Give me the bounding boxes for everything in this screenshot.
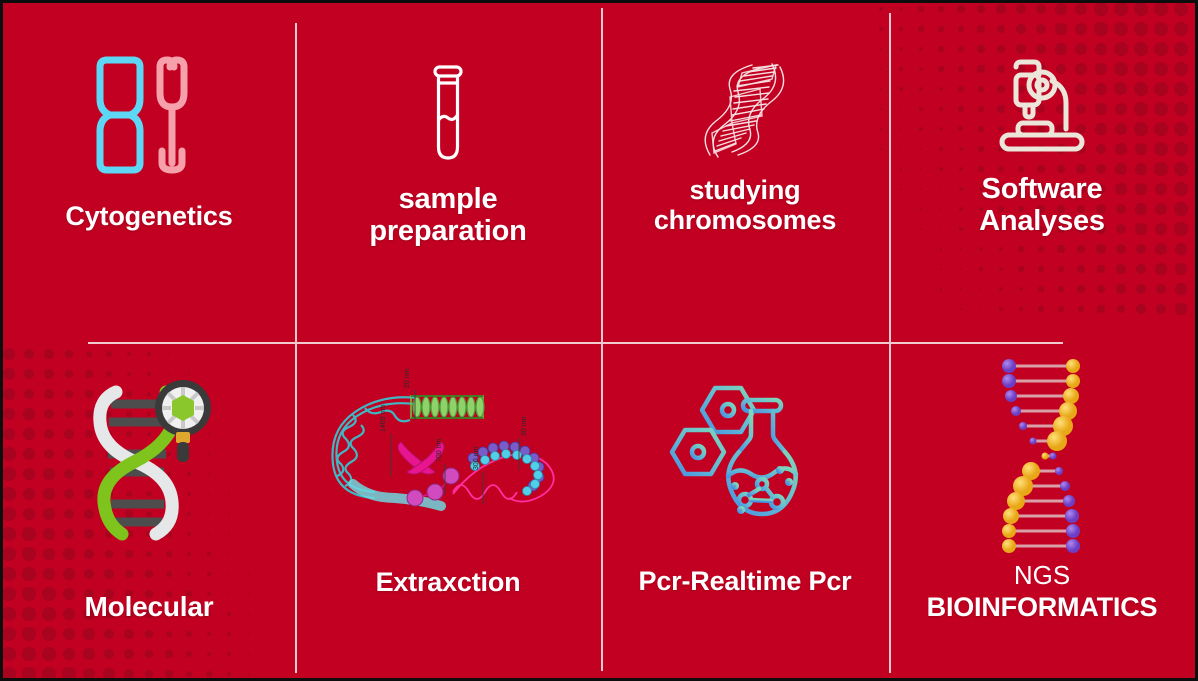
annotation-300nm: 300 nm	[473, 446, 480, 470]
cell-ngs-bioinformatics[interactable]: NGS BIOINFORMATICS	[889, 342, 1195, 678]
cells-grid: Cytogenetics sample preparation	[3, 3, 1195, 678]
cell-label-cytogenetics: Cytogenetics	[65, 201, 232, 231]
cell-label-bioinformatics: BIOINFORMATICS	[927, 592, 1158, 622]
cell-label-sample-preparation: sample preparation	[369, 183, 526, 248]
cell-label-ngs: NGS	[1014, 560, 1070, 591]
cell-label-extraxction: Extraxction	[376, 567, 521, 597]
cell-extraxction[interactable]: 20 nm 30 nm 300 nm 700 nm 1400 nm Extrax…	[295, 342, 601, 678]
cell-software-analyses[interactable]: Software Analyses	[889, 3, 1195, 342]
annotation-700nm: 700 nm	[436, 438, 443, 462]
cell-sample-preparation[interactable]: sample preparation	[295, 3, 601, 342]
dna-beads-helix-icon	[987, 354, 1097, 554]
annotation-20nm: 20 nm	[404, 368, 411, 388]
label-line-2: preparation	[369, 215, 526, 247]
label-line-1: Software	[982, 173, 1103, 205]
infographic-board: Cytogenetics sample preparation	[0, 0, 1198, 681]
test-tube-icon	[413, 63, 483, 163]
label-line-1: sample	[399, 183, 498, 215]
xy-chromosome-icon	[88, 55, 210, 175]
cell-label-molecular: Molecular	[85, 591, 214, 622]
microscope-icon	[990, 51, 1094, 155]
dna-magnifier-icon	[84, 370, 214, 555]
cell-label-software-analyses: Software Analyses	[979, 173, 1105, 238]
cell-pcr-realtime-pcr[interactable]: Pcr-Realtime Pcr	[601, 342, 889, 678]
label-line-2: Analyses	[979, 205, 1105, 237]
dna-helix-sketch-icon	[690, 59, 800, 159]
molecule-flask-icon	[661, 378, 829, 528]
label-line-1: studying	[690, 175, 801, 205]
cell-studying-chromosomes[interactable]: studying chromosomes	[601, 3, 889, 342]
cell-label-studying-chromosomes: studying chromosomes	[654, 175, 836, 235]
annotation-1400nm: 1400 nm	[380, 405, 387, 432]
cell-label-pcr-realtime-pcr: Pcr-Realtime Pcr	[639, 566, 852, 596]
dna-packaging-diagram-icon: 20 nm 30 nm 300 nm 700 nm 1400 nm	[323, 372, 573, 537]
annotation-30nm: 30 nm	[521, 416, 528, 436]
cell-molecular[interactable]: Molecular	[3, 342, 295, 678]
label-line-2: chromosomes	[654, 205, 836, 235]
cell-cytogenetics[interactable]: Cytogenetics	[3, 3, 295, 342]
